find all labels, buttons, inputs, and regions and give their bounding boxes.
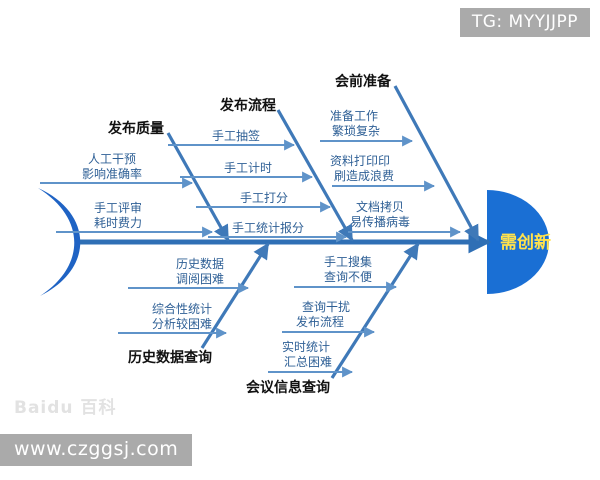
branch-发布质量: 发布质量 人工干预 影响准确率 手工评审 耗时费力 — [40, 120, 228, 240]
cause-label: 手工计时 — [224, 161, 272, 175]
branch-label: 发布质量 — [107, 120, 164, 137]
cause-label: 历史数据 — [176, 256, 224, 271]
cause-label: 刷造成浪费 — [334, 168, 394, 183]
branch-label: 会前准备 — [335, 73, 392, 90]
cause-label: 汇总困难 — [284, 355, 332, 369]
cause-label: 人工干预 — [88, 152, 136, 166]
effect-label: 需创新 — [500, 232, 551, 253]
cause-label: 手工打分 — [240, 191, 288, 205]
cause-label: 手工抽签 — [212, 128, 260, 143]
tg-badge: TG: MYYJJPP — [460, 8, 590, 37]
cause-label: 资料打印印 — [330, 154, 390, 168]
fish-tail — [38, 188, 80, 296]
fishbone-diagram-canvas: 需创新 发布质量 人工干预 影响准确率 手工评审 耗时费力 发布流程 手工抽签 … — [0, 0, 600, 480]
cause-label: 耗时费力 — [94, 216, 142, 230]
cause-label: 易传播病毒 — [350, 214, 410, 229]
branch-会前准备: 会前准备 准备工作 繁琐复杂 资料打印印 刷造成浪费 文档拷贝 易传播病毒 — [320, 73, 478, 240]
cause-label: 影响准确率 — [82, 166, 142, 181]
branch-发布流程: 发布流程 手工抽签 手工计时 手工打分 手工统计报分 — [168, 97, 352, 240]
cause-label: 实时统计 — [282, 339, 330, 354]
cause-label: 手工评审 — [94, 200, 142, 215]
cause-label: 分析较困难 — [152, 316, 212, 331]
cause-label: 文档拷贝 — [356, 199, 404, 214]
cause-label: 综合性统计 — [152, 301, 212, 316]
cause-label: 查询干扰 — [302, 300, 350, 314]
cause-label: 发布流程 — [296, 314, 344, 329]
cause-label: 查询不便 — [324, 270, 372, 284]
baidu-watermark: Baidu 百科 — [14, 393, 116, 418]
cause-label: 调阅困难 — [176, 272, 224, 286]
branch-label: 发布流程 — [219, 97, 276, 114]
branch-会议信息查询: 会议信息查询 手工搜集 查询不便 查询干扰 发布流程 实时统计 汇总困难 — [246, 244, 418, 396]
site-url-badge: www.czggsj.com — [0, 434, 192, 466]
cause-label: 繁琐复杂 — [332, 123, 380, 138]
cause-label: 手工统计报分 — [232, 220, 304, 235]
branch-bone — [168, 133, 228, 240]
branch-label: 会议信息查询 — [246, 379, 330, 396]
cause-label: 手工搜集 — [324, 254, 372, 269]
branch-label: 历史数据查询 — [128, 349, 212, 366]
cause-label: 准备工作 — [330, 109, 378, 123]
branch-历史数据查询: 历史数据查询 历史数据 调阅困难 综合性统计 分析较困难 — [118, 244, 268, 366]
